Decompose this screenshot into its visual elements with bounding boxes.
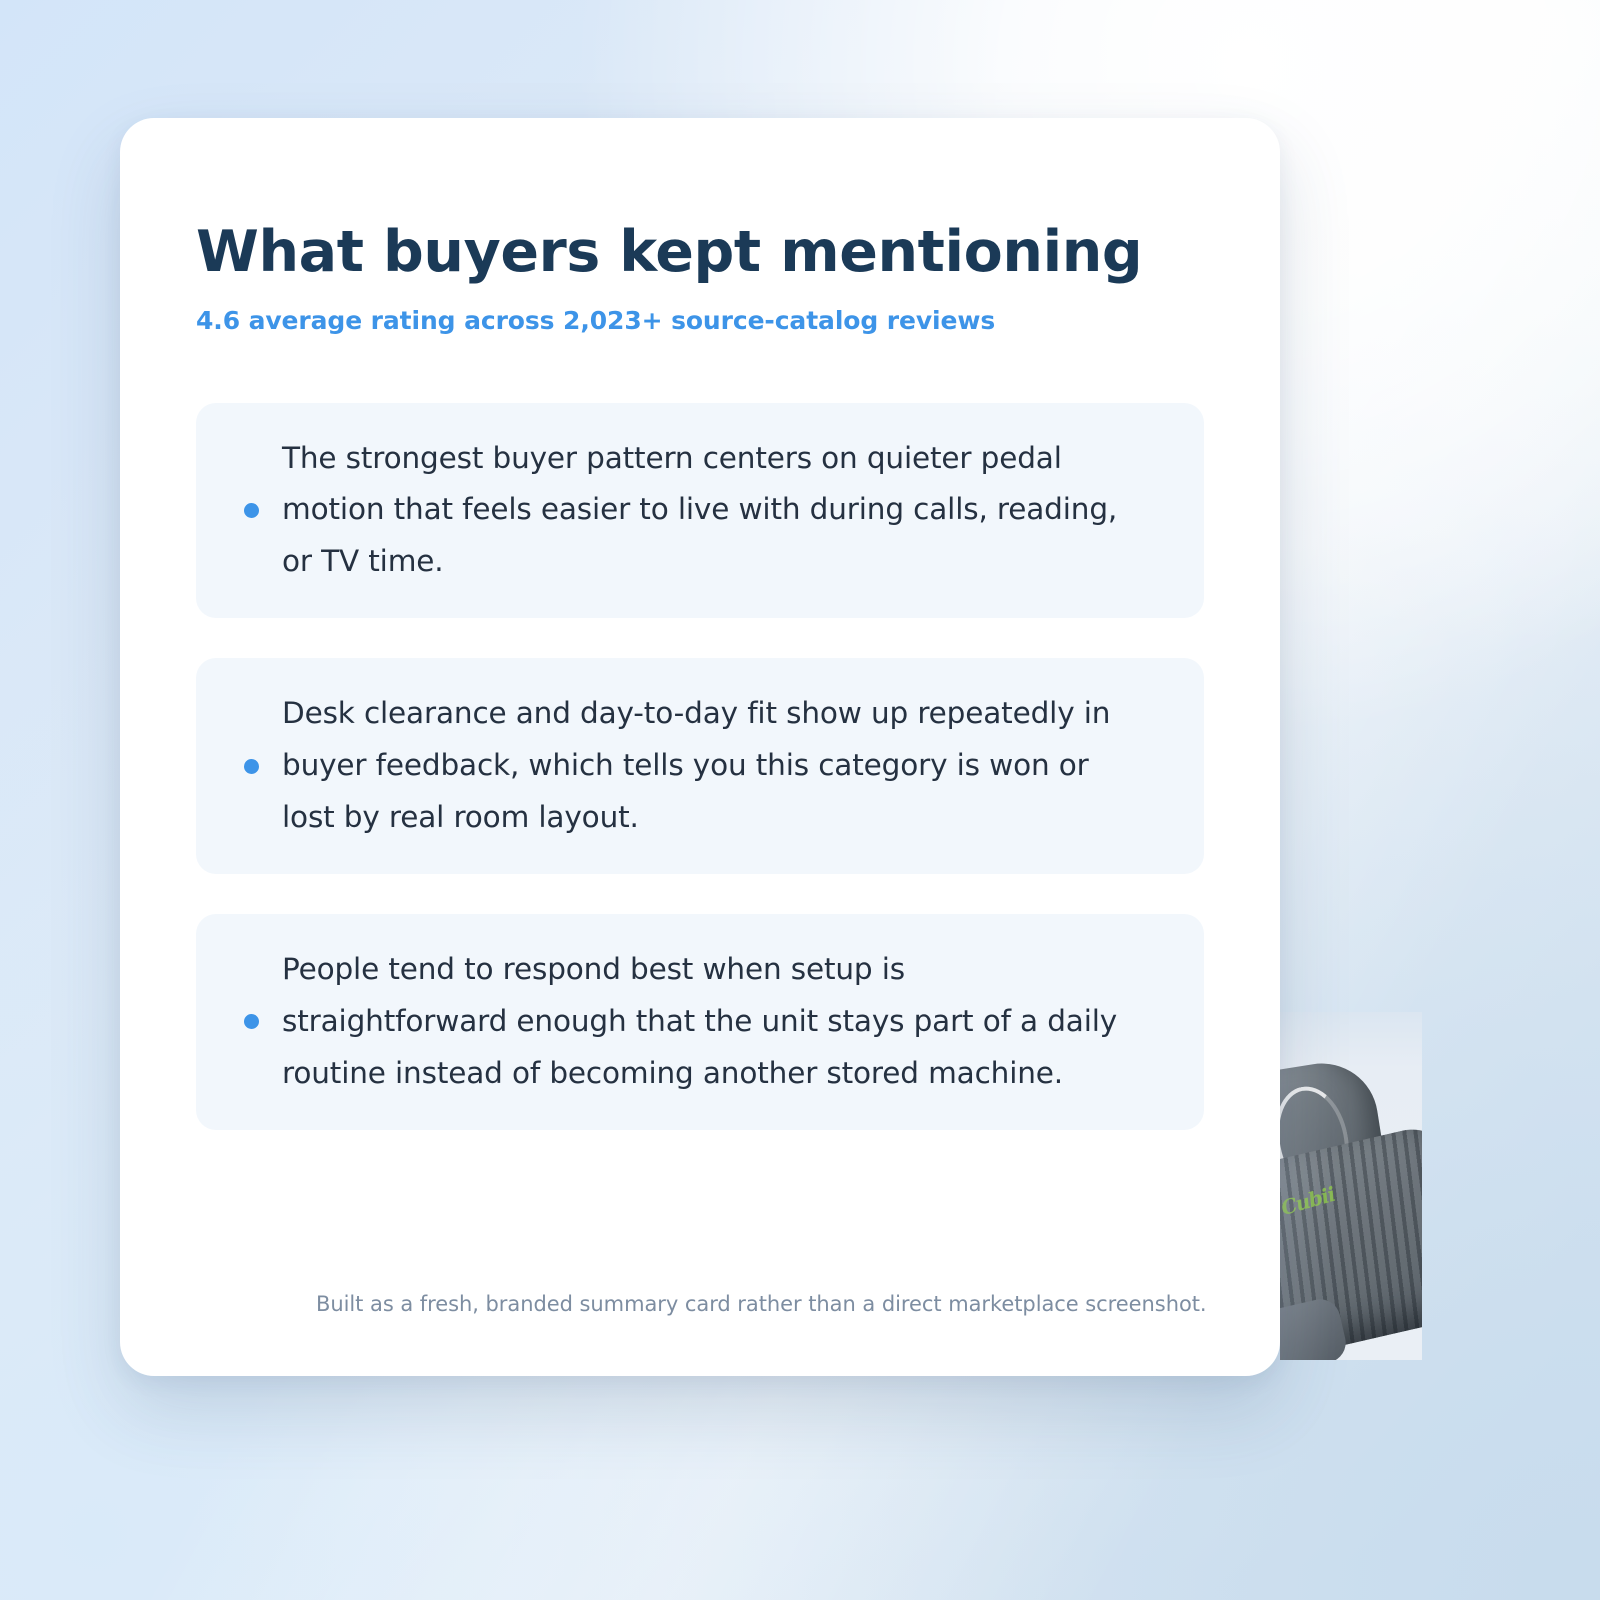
bullet-dot-icon [220,503,282,518]
list-item: Desk clearance and day-to-day fit show u… [196,658,1204,874]
list-item: People tend to respond best when setup i… [196,914,1204,1130]
summary-card: What buyers kept mentioning 4.6 average … [120,118,1280,1376]
insight-text: The strongest buyer pattern centers on q… [282,433,1118,589]
insight-text: People tend to respond best when setup i… [282,944,1118,1100]
photo-overlay [1280,1012,1422,1360]
page-title: What buyers kept mentioning [196,222,1204,284]
list-item: The strongest buyer pattern centers on q… [196,403,1204,619]
card-content: What buyers kept mentioning 4.6 average … [120,222,1280,1130]
footer-note: Built as a fresh, branded summary card r… [316,1292,1207,1316]
rating-subtitle: 4.6 average rating across 2,023+ source-… [196,306,1204,335]
product-photo: Cubii [1280,1012,1422,1360]
bullet-dot-icon [220,759,282,774]
insight-list: The strongest buyer pattern centers on q… [196,403,1204,1130]
bullet-dot-icon [220,1014,282,1029]
insight-text: Desk clearance and day-to-day fit show u… [282,688,1118,844]
